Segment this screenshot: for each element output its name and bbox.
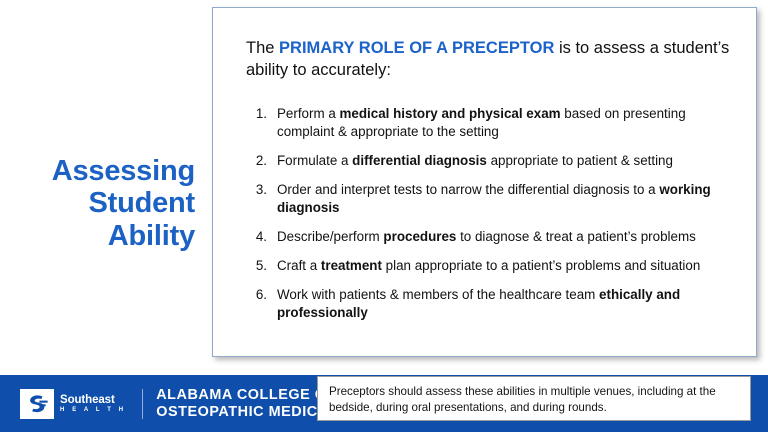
page-title: AssessingStudentAbility xyxy=(10,155,195,252)
list-item-number: 1. xyxy=(245,105,267,123)
caption-box: Preceptors should assess these abilities… xyxy=(317,376,751,421)
list-item-number: 6. xyxy=(245,286,267,304)
list-item: 4.Describe/perform procedures to diagnos… xyxy=(231,228,742,246)
institution-line-2: OSTEOPATHIC MEDICINE xyxy=(156,404,343,421)
institution-name: ALABAMA COLLEGE OF OSTEOPATHIC MEDICINE xyxy=(156,387,343,420)
list-item-span: Formulate a xyxy=(277,153,352,168)
southeast-health-logo-icon xyxy=(20,389,54,419)
heading-prefix: The xyxy=(246,39,279,57)
list-item-emphasis: procedures xyxy=(383,229,456,244)
list-item: 5.Craft a treatment plan appropriate to … xyxy=(231,257,742,275)
list-item-text: Describe/perform procedures to diagnose … xyxy=(277,229,696,244)
list-item: 2.Formulate a differential diagnosis app… xyxy=(231,152,742,170)
list-item-number: 3. xyxy=(245,181,267,199)
list-item-span: Describe/perform xyxy=(277,229,383,244)
list-item: 3.Order and interpret tests to narrow th… xyxy=(231,181,742,217)
list-item-emphasis: medical history and physical exam xyxy=(340,106,561,121)
content-panel: The PRIMARY ROLE OF A PRECEPTOR is to as… xyxy=(212,7,757,357)
list-item-span: appropriate to patient & setting xyxy=(487,153,673,168)
page-title-line: Student xyxy=(10,187,195,219)
logo-subtitle: H E A L T H xyxy=(60,407,126,413)
institution-line-1: ALABAMA COLLEGE OF xyxy=(156,387,343,404)
list-item-emphasis: differential diagnosis xyxy=(352,153,487,168)
panel-heading: The PRIMARY ROLE OF A PRECEPTOR is to as… xyxy=(246,38,734,82)
list-item-number: 2. xyxy=(245,152,267,170)
list-item-text: Formulate a differential diagnosis appro… xyxy=(277,153,673,168)
ability-list: 1.Perform a medical history and physical… xyxy=(231,105,742,333)
list-item: 1.Perform a medical history and physical… xyxy=(231,105,742,141)
page-title-line: Ability xyxy=(10,220,195,252)
brand-divider xyxy=(142,389,143,419)
southeast-health-wordmark: Southeast H E A L T H xyxy=(60,395,126,414)
list-item-span: Work with patients & members of the heal… xyxy=(277,287,599,302)
heading-highlight: PRIMARY ROLE OF A PRECEPTOR xyxy=(279,39,554,57)
list-item-span: Craft a xyxy=(277,258,321,273)
list-item-emphasis: treatment xyxy=(321,258,382,273)
list-item: 6.Work with patients & members of the he… xyxy=(231,286,742,322)
list-item-span: Perform a xyxy=(277,106,340,121)
page-title-line: Assessing xyxy=(10,155,195,187)
list-item-text: Order and interpret tests to narrow the … xyxy=(277,182,711,215)
list-item-text: Work with patients & members of the heal… xyxy=(277,287,680,320)
logo-name: Southeast xyxy=(60,395,126,407)
list-item-number: 5. xyxy=(245,257,267,275)
list-item-span: Order and interpret tests to narrow the … xyxy=(277,182,659,197)
list-item-number: 4. xyxy=(245,228,267,246)
list-item-span: to diagnose & treat a patient’s problems xyxy=(456,229,695,244)
list-item-text: Craft a treatment plan appropriate to a … xyxy=(277,258,700,273)
list-item-span: plan appropriate to a patient’s problems… xyxy=(382,258,700,273)
brand-group: Southeast H E A L T H ALABAMA COLLEGE OF… xyxy=(20,385,343,423)
list-item-text: Perform a medical history and physical e… xyxy=(277,106,686,139)
